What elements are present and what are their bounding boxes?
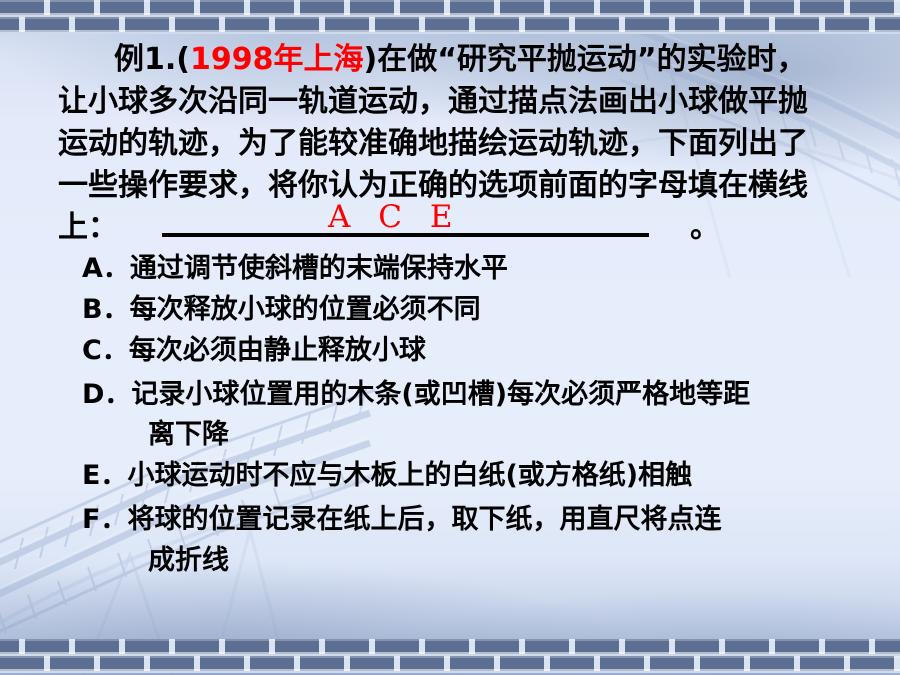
option-b-text: 每次释放小球的位置必须不同 [130, 294, 481, 325]
option-c-label: C． [82, 328, 129, 367]
option-f-continuation: 成折线 [148, 538, 229, 577]
slide: 例1.(1998年上海)在做“研究平抛运动”的实验时， 让小球多次沿同一轨道运动… [0, 0, 900, 675]
option-e: E．小球运动时不应与木板上的白纸(或方格纸)相触 [82, 453, 692, 492]
answer-blank-line: 上： A C E 。 [58, 202, 118, 240]
question-line-3: 运动的轨迹，为了能较准确地描绘运动轨迹，下面列出了 [58, 118, 858, 162]
option-d-text: 记录小球位置用的木条(或凹槽)每次必须严格地等距 [131, 379, 750, 410]
question-line-2: 让小球多次沿同一轨道运动，通过描点法画出小球做平抛 [58, 76, 858, 120]
option-d-label: D． [82, 372, 131, 411]
option-b: B．每次释放小球的位置必须不同 [82, 287, 481, 326]
option-f-label: F． [82, 497, 127, 536]
option-e-label: E． [82, 453, 127, 492]
option-e-text: 小球运动时不应与木板上的白纸(或方格纸)相触 [127, 460, 692, 491]
answer-period: 。 [690, 202, 720, 246]
option-c-text: 每次必须由静止释放小球 [129, 335, 426, 366]
option-d: D．记录小球位置用的木条(或凹槽)每次必须严格地等距 [82, 372, 750, 411]
option-a-label: A． [82, 246, 130, 285]
option-f-text: 将球的位置记录在纸上后，取下纸，用直尺将点连 [127, 504, 721, 535]
answer-letters: A C E [328, 199, 461, 235]
question-line1-prefix: 例1.( [114, 42, 190, 77]
option-a: A．通过调节使斜槽的末端保持水平 [82, 246, 508, 285]
option-a-text: 通过调节使斜槽的末端保持水平 [130, 253, 508, 284]
option-d-continuation: 离下降 [148, 412, 229, 451]
option-f: F．将球的位置记录在纸上后，取下纸，用直尺将点连 [82, 497, 721, 536]
slide-content: 例1.(1998年上海)在做“研究平抛运动”的实验时， 让小球多次沿同一轨道运动… [0, 0, 900, 675]
question-line1-suffix: )在做“研究平抛运动”的实验时， [363, 42, 806, 77]
question-source-red: 1998年上海 [190, 42, 364, 77]
question-line-4: 一些操作要求，将你认为正确的选项前面的字母填在横线 [58, 160, 858, 204]
question-line-1: 例1.(1998年上海)在做“研究平抛运动”的实验时， [114, 34, 900, 78]
option-b-label: B． [82, 287, 130, 326]
option-c: C．每次必须由静止释放小球 [82, 328, 426, 367]
answer-line-prefix: 上： [58, 210, 118, 245]
